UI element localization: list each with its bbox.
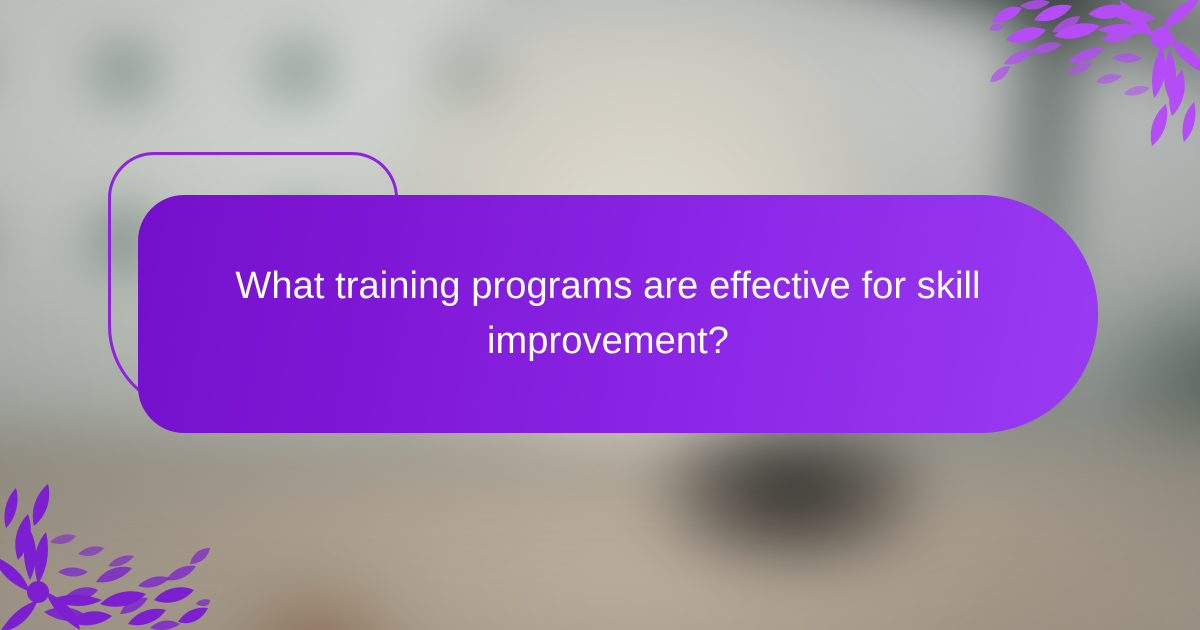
question-card: What training programs are effective for… [138, 195, 1098, 433]
social-card-canvas: What training programs are effective for… [0, 0, 1200, 630]
question-text: What training programs are effective for… [223, 259, 993, 368]
